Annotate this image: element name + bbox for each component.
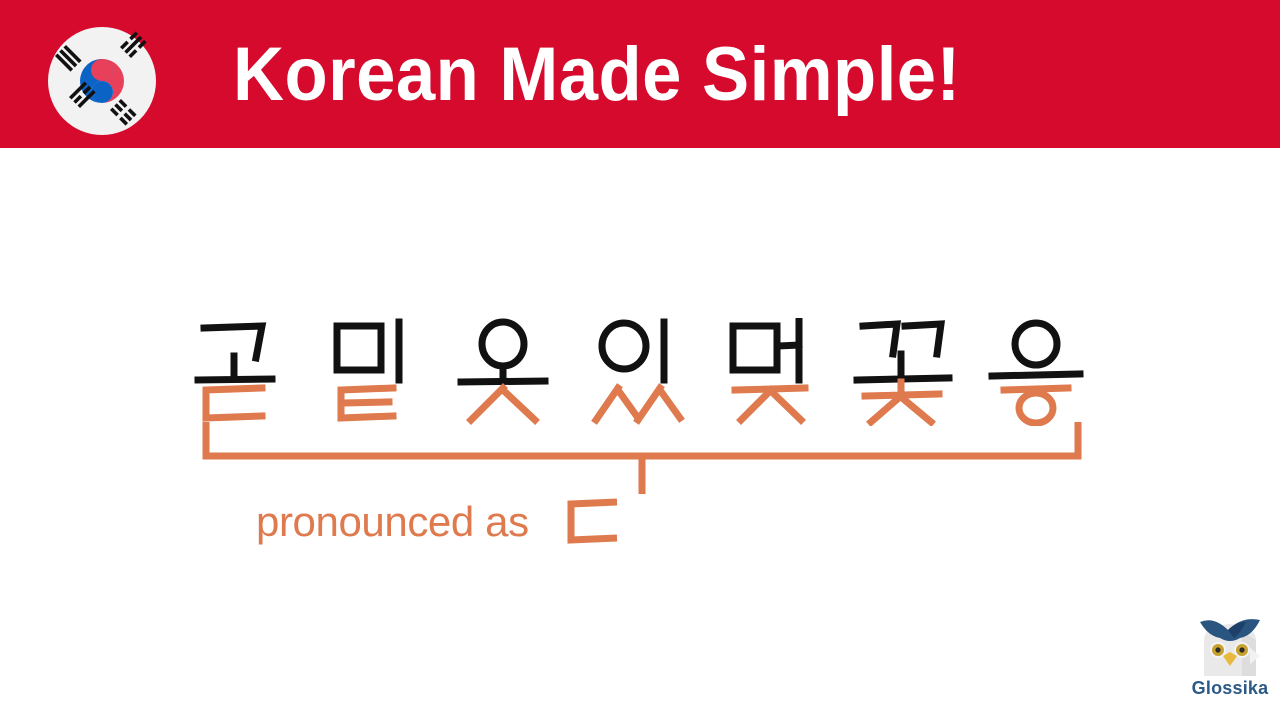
caption-row: pronounced as <box>256 494 623 550</box>
glossika-wordmark: Glossika <box>1186 678 1274 698</box>
slide-canvas: Korean Made Simple! <box>0 0 1280 720</box>
glossika-owl-icon <box>1194 614 1266 676</box>
jamo-digeut-icon <box>565 494 623 550</box>
syllable-eung <box>986 318 1090 426</box>
korean-flag-icon <box>48 27 156 135</box>
pronunciation-bracket <box>200 418 1084 500</box>
syllable-mit <box>323 318 427 426</box>
syllable-mat <box>721 318 825 426</box>
pronounced-as-label: pronounced as <box>256 494 529 550</box>
syllable-kkot <box>853 318 957 426</box>
syllable-ot <box>455 318 559 426</box>
syllable-row <box>190 318 1090 428</box>
syllable-gon <box>190 318 294 426</box>
syllable-it <box>588 318 692 426</box>
glossika-logo: Glossika <box>1186 614 1274 706</box>
page-title: Korean Made Simple! <box>233 25 961 125</box>
